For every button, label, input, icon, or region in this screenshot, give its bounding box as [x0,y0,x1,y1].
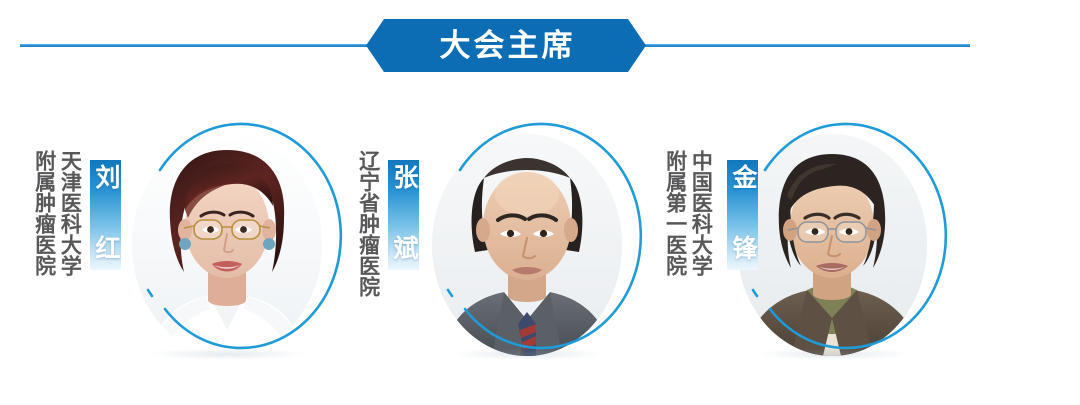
page-header: 大会主席 [0,0,1080,92]
portrait-shadow [448,348,608,360]
affiliation-column: 中国医科大学 [689,150,712,276]
name-character: 张 [391,164,416,189]
header-rule-right [640,44,970,47]
portrait-ring [122,128,332,358]
name-character: 金 [730,164,755,189]
portrait-ring [727,128,937,358]
name-character: 锋 [730,235,755,260]
speaker-portrait [422,120,634,366]
portrait-shadow [753,348,913,360]
speaker-portrait [122,120,334,366]
affiliation-column: 辽宁省肿瘤医院 [356,150,379,297]
speaker-card[interactable]: 天津医科大学 附属肿瘤医院 刘 红 [22,92,352,405]
speaker-card[interactable]: 辽宁省肿瘤医院 张 斌 [340,92,660,405]
title-banner: 大会主席 [366,19,646,72]
speaker-affiliation: 辽宁省肿瘤医院 [356,150,379,297]
affiliation-column: 附属第一医院 [663,150,686,276]
name-character: 红 [93,235,118,260]
affiliation-column: 附属肿瘤医院 [32,150,55,276]
portrait-ring [422,128,632,358]
name-character: 斌 [391,235,416,260]
speaker-affiliation: 天津医科大学 附属肿瘤医院 [32,150,80,276]
portrait-shadow [148,348,308,360]
speaker-name-badge: 刘 红 [90,160,121,270]
speaker-portrait [727,120,939,366]
speaker-name-badge: 张 斌 [388,160,419,270]
speaker-name-badge: 金 锋 [727,160,758,270]
speaker-list: 天津医科大学 附属肿瘤医院 刘 红 [0,92,1080,405]
name-character: 刘 [93,164,118,189]
affiliation-column: 天津医科大学 [58,150,81,276]
speaker-card[interactable]: 中国医科大学 附属第一医院 金 锋 [655,92,985,405]
header-rule-left [20,44,372,47]
speaker-affiliation: 中国医科大学 附属第一医院 [663,150,711,276]
page-title: 大会主席 [437,30,576,61]
